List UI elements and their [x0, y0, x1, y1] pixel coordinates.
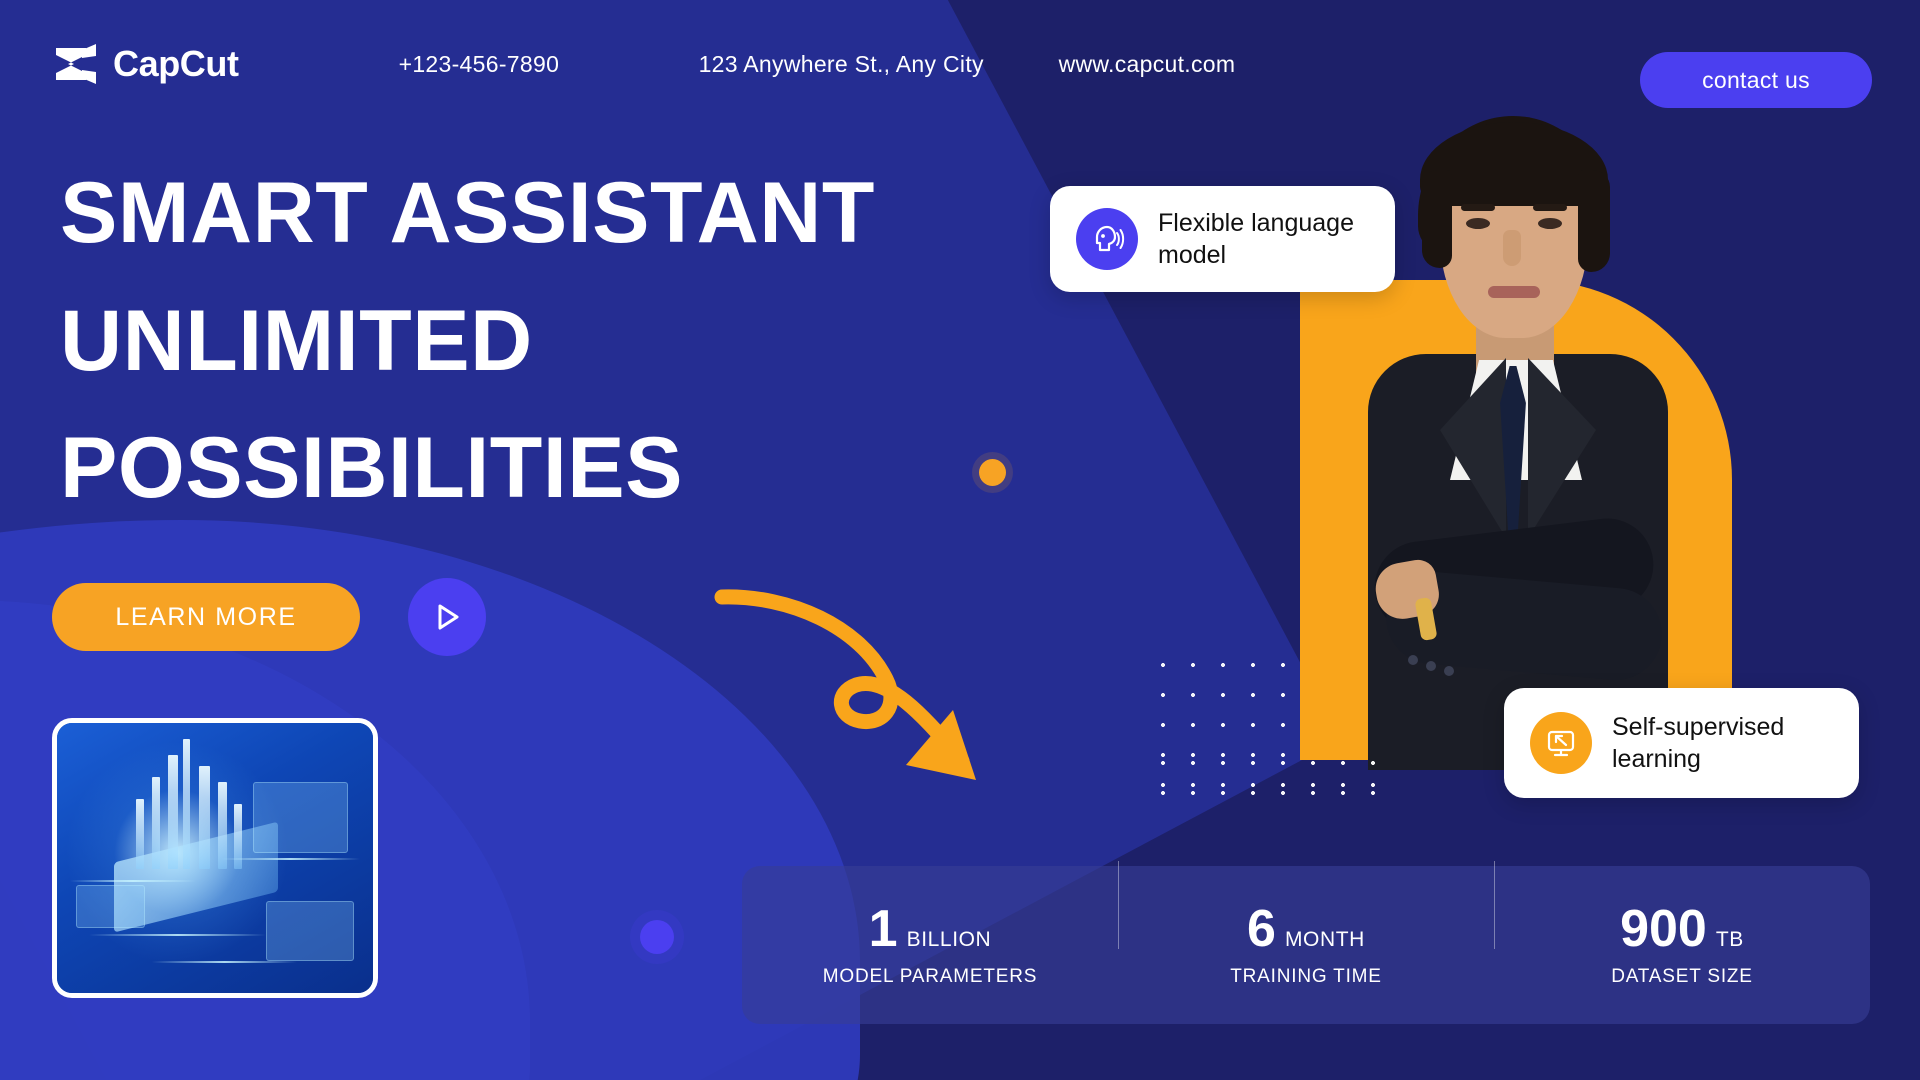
contact-us-button[interactable]: contact us [1640, 52, 1872, 108]
blue-dot [640, 920, 674, 954]
header-contact-info: +123-456-7890 123 Anywhere St., Any City… [399, 51, 1319, 78]
tech-circuit-city-image [57, 723, 373, 993]
headline-line-2: UNLIMITED [60, 298, 875, 386]
banner-stage: CapCut +123-456-7890 123 Anywhere St., A… [0, 0, 1920, 1080]
feature-card-language-model[interactable]: Flexible language model [1050, 186, 1395, 292]
stat-label: DATASET SIZE [1494, 966, 1870, 988]
stat-label: TRAINING TIME [1118, 966, 1494, 988]
brand-logo[interactable]: CapCut [52, 43, 239, 85]
stat-number: 900 [1620, 903, 1707, 955]
speaking-face-icon [1076, 208, 1138, 270]
header-website[interactable]: www.capcut.com [1059, 51, 1319, 78]
stat-unit: MONTH [1285, 928, 1365, 952]
hero-headline: SMART ASSISTANT UNLIMITED POSSIBILITIES [60, 170, 875, 513]
headline-line-1: SMART ASSISTANT [60, 170, 875, 258]
stats-bar: 1 BILLION MODEL PARAMETERS 6 MONTH TRAIN… [742, 866, 1870, 1024]
feature-card-self-supervised[interactable]: Self-supervised learning [1504, 688, 1859, 798]
hero-cta-row: LEARN MORE [52, 578, 486, 656]
header-bar: CapCut +123-456-7890 123 Anywhere St., A… [0, 0, 1920, 128]
dot-grid-pattern-overlay [1148, 748, 1398, 816]
feature-card-label: Self-supervised learning [1612, 711, 1833, 775]
tech-thumbnail[interactable] [52, 718, 378, 998]
monitor-arrow-icon [1530, 712, 1592, 774]
brand-name: CapCut [113, 43, 239, 85]
orange-dot [979, 459, 1006, 486]
stat-item: 6 MONTH TRAINING TIME [1118, 903, 1494, 988]
stat-unit: TB [1716, 928, 1744, 952]
stat-label: MODEL PARAMETERS [742, 966, 1118, 988]
stat-unit: BILLION [907, 928, 992, 952]
learn-more-button[interactable]: LEARN MORE [52, 583, 360, 651]
curved-arrow-icon [710, 575, 1030, 830]
headline-line-3: POSSIBILITIES [60, 425, 875, 513]
capcut-logo-icon [52, 44, 100, 84]
stat-number: 1 [869, 903, 898, 955]
feature-card-label: Flexible language model [1158, 207, 1369, 271]
header-address: 123 Anywhere St., Any City [699, 51, 1059, 78]
play-video-button[interactable] [408, 578, 486, 656]
stat-item: 900 TB DATASET SIZE [1494, 903, 1870, 988]
stat-number: 6 [1247, 903, 1276, 955]
play-icon [432, 601, 462, 633]
header-phone[interactable]: +123-456-7890 [399, 51, 699, 78]
stat-item: 1 BILLION MODEL PARAMETERS [742, 903, 1118, 988]
